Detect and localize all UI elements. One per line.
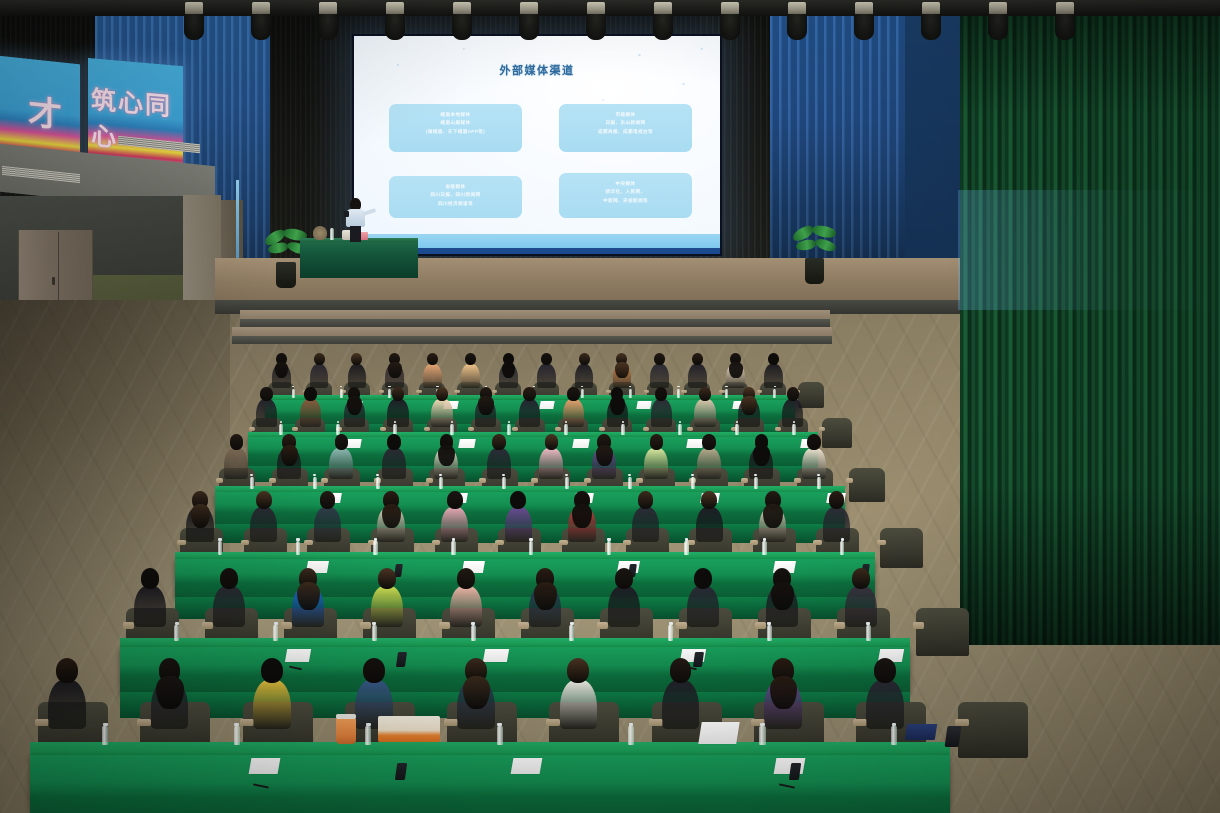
water-bottle <box>607 541 611 555</box>
chair-arm <box>202 622 213 628</box>
attendee-head <box>436 387 448 401</box>
chair[interactable] <box>880 528 923 568</box>
note-paper[interactable] <box>573 439 591 448</box>
snack-box <box>378 716 440 742</box>
chair-arm <box>643 427 649 431</box>
presenter-legs <box>350 226 361 242</box>
attendee-torso <box>764 364 783 388</box>
attendee-torso <box>575 364 594 388</box>
attendee-hair <box>729 362 743 379</box>
spotlight-lamp <box>921 14 941 40</box>
water-bottle <box>451 541 455 555</box>
notebook[interactable] <box>698 722 739 744</box>
water-bottle <box>629 389 632 398</box>
water-bottle <box>174 625 179 641</box>
attendee-torso <box>253 680 291 729</box>
chair-arm <box>495 540 504 545</box>
spotlight-lamp <box>787 14 807 40</box>
slide-box-province-media: 省级媒体 四川日报、四川新闻网 四川经济频道等 <box>389 176 522 218</box>
slide-box-local-media: 峨眉本地媒体 峨眉山报媒体 (微峨眉、天下峨眉APP等) <box>389 104 522 152</box>
attendee-hair <box>281 445 298 466</box>
attendee-head <box>56 658 78 683</box>
water-bottle <box>792 424 795 435</box>
slide-box-line: (微峨眉、天下峨眉APP等) <box>389 128 522 136</box>
attendee-hair <box>615 362 629 379</box>
attendee-torso <box>644 448 668 479</box>
attendee-head <box>457 568 475 589</box>
stage-step-riser <box>240 319 830 327</box>
spotlight-lamp <box>586 14 606 40</box>
water-bottle <box>279 424 282 435</box>
water-bottle <box>581 389 584 398</box>
attendee-torso <box>213 586 245 627</box>
attendee-torso <box>382 448 406 479</box>
chair-arm <box>681 390 686 393</box>
attendee-torso <box>431 399 452 427</box>
bottle-cap <box>570 622 574 625</box>
attendee-torso <box>441 507 468 543</box>
note-paper[interactable] <box>511 758 543 774</box>
attendee-torso <box>256 399 277 427</box>
chair-arm <box>741 478 748 482</box>
attendee-torso <box>300 399 321 427</box>
smartphone[interactable] <box>693 652 704 667</box>
water-bottle <box>296 541 300 555</box>
bottle-cap <box>471 622 475 625</box>
attendee-head <box>378 568 396 589</box>
water-bottle <box>668 625 673 641</box>
attendee-torso <box>688 364 707 388</box>
attendee-head <box>655 387 667 401</box>
chair-arm <box>360 622 371 628</box>
water-bottle <box>502 477 506 489</box>
chair-arm <box>555 427 561 431</box>
spotlight-lamp <box>720 14 740 40</box>
water-bottle <box>565 477 569 489</box>
water-bottle <box>376 477 380 489</box>
bottle-cap <box>725 386 727 387</box>
water-bottle <box>762 541 766 555</box>
attendee-head <box>492 434 506 450</box>
stage-step-riser <box>232 336 832 344</box>
bottle-cap <box>767 622 771 625</box>
attendee-hair <box>771 582 794 610</box>
tablet-cover[interactable] <box>905 724 938 740</box>
attendee-head <box>638 491 654 509</box>
attendee-hair <box>297 582 320 610</box>
bottle-cap <box>274 622 278 625</box>
bottle-cap <box>817 474 820 476</box>
attendee-head <box>615 568 633 589</box>
attendee-torso <box>134 586 166 627</box>
chair-arm <box>644 390 649 393</box>
bottle-cap <box>372 622 376 625</box>
attendee-hair <box>388 362 402 379</box>
chair-arm <box>636 478 643 482</box>
bottle-cap <box>218 538 221 540</box>
chair-arm <box>687 427 693 431</box>
attendee-hair <box>770 676 797 709</box>
side-screen-left-text: 才 <box>28 85 62 138</box>
bottle-cap <box>497 723 502 726</box>
attendee-hair <box>572 504 592 528</box>
bottle-cap <box>234 723 239 726</box>
chair-arm <box>913 622 924 628</box>
attendee-torso <box>866 680 904 729</box>
bottle-cap <box>565 474 568 476</box>
bottle-cap <box>669 622 673 625</box>
attendee-torso <box>694 399 715 427</box>
chair-arm <box>426 478 433 482</box>
attendee-head <box>260 387 272 401</box>
chair-arm <box>606 390 611 393</box>
attendee-head <box>510 491 526 509</box>
water-bottle <box>621 424 624 435</box>
chair-arm <box>241 540 250 545</box>
attendee-head <box>447 491 463 509</box>
bottle-cap <box>250 474 253 476</box>
water-bottle <box>439 477 443 489</box>
attendee-torso <box>537 364 556 388</box>
chair[interactable] <box>849 468 885 502</box>
attendee-torso <box>387 399 408 427</box>
note-paper[interactable] <box>483 649 510 662</box>
bottle-cap <box>760 723 765 726</box>
chair-arm <box>216 478 223 482</box>
curtain-light-spill <box>958 190 1220 310</box>
attendee-torso <box>823 507 850 543</box>
attendee-head <box>874 658 896 683</box>
attendee-head <box>523 387 535 401</box>
chair-arm <box>177 540 186 545</box>
chair-arm <box>424 427 430 431</box>
attendee-head <box>335 434 349 450</box>
chair-arm <box>454 390 459 393</box>
bottle-cap <box>439 474 442 476</box>
water-bottle <box>273 625 278 641</box>
lighting-truss <box>0 0 1220 16</box>
bottle-cap <box>175 622 179 625</box>
note-paper[interactable] <box>459 439 477 448</box>
water-bottle <box>365 726 371 745</box>
door-handle[interactable] <box>52 277 55 285</box>
attendee-head <box>541 353 552 365</box>
slide-title: 外部媒体渠道 <box>354 62 720 78</box>
chair-arm <box>813 540 822 545</box>
slide-box-city-media: 市级媒体 日报、乐山新闻网 成都商报、成都电视台等 <box>559 104 692 152</box>
slide-box-line: 成都商报、成都电视台等 <box>559 128 692 136</box>
chair-arm <box>623 540 632 545</box>
water-bottle <box>313 477 317 489</box>
attendee-torso <box>687 586 719 627</box>
chair-arm <box>137 719 151 726</box>
chair-arm <box>755 622 766 628</box>
water-bottle <box>450 424 453 435</box>
bottle-cap <box>628 474 631 476</box>
note-paper[interactable] <box>285 649 312 662</box>
bottle-cap <box>374 538 377 540</box>
slide-box-line: 中央媒体 <box>559 180 692 188</box>
attendee-head <box>807 434 821 450</box>
attendee-head <box>702 434 716 450</box>
decorative-item <box>313 226 327 240</box>
bottle-cap <box>502 474 505 476</box>
slide-box-line: 日报、乐山新闻网 <box>559 119 692 127</box>
attendee-torso <box>250 507 277 543</box>
attendee-head <box>694 568 712 589</box>
conference-table <box>30 755 950 813</box>
attendee-torso <box>539 448 563 479</box>
attendee-torso <box>450 586 482 627</box>
water-bottle <box>678 424 681 435</box>
chair[interactable] <box>958 702 1028 758</box>
bottle-cap <box>529 538 532 540</box>
attendee-head <box>699 387 711 401</box>
slide-box-line: 省级媒体 <box>389 183 522 191</box>
slide-box-line: 中新网、央视新闻等 <box>559 197 692 205</box>
attendee-torso <box>697 448 721 479</box>
water-bottle <box>564 424 567 435</box>
attendee-torso <box>348 364 367 388</box>
water-bottle <box>250 477 254 489</box>
chair-arm <box>432 540 441 545</box>
blue-lit-wall-right <box>770 0 920 300</box>
drink-cup <box>336 718 356 744</box>
attendee-head <box>787 387 799 401</box>
chair-arm <box>750 540 759 545</box>
chair-arm <box>512 427 518 431</box>
water-bottle <box>684 541 688 555</box>
stage-table <box>300 240 418 278</box>
chair-arm <box>240 719 254 726</box>
bottle-cap <box>754 474 757 476</box>
chair-arm <box>518 622 529 628</box>
bottle-cap <box>774 386 776 387</box>
attendee-torso <box>487 448 511 479</box>
attendee-torso <box>310 364 329 388</box>
chair-arm <box>292 427 298 431</box>
attendee-torso <box>314 507 341 543</box>
attendee-head <box>701 491 717 509</box>
bottle-cap <box>388 386 390 387</box>
water-bottle <box>840 541 844 555</box>
bottle-cap <box>376 474 379 476</box>
chair-arm <box>853 719 867 726</box>
chair-arm <box>468 427 474 431</box>
chair-arm <box>479 478 486 482</box>
attendee-head <box>261 658 283 683</box>
water-bottle <box>691 477 695 489</box>
chair-arm <box>794 478 801 482</box>
attendee-torso <box>802 448 826 479</box>
slide-box-line: 四川日报、四川新闻网 <box>389 191 522 199</box>
bottle-cap <box>892 723 897 726</box>
chair-arm <box>546 719 560 726</box>
bottle-cap <box>866 622 870 625</box>
chair-arm <box>35 719 49 726</box>
attendee-hair <box>478 396 493 415</box>
slide-box-line: 峨眉本地媒体 <box>389 111 522 119</box>
water-bottle <box>735 424 738 435</box>
attendee-torso <box>845 586 877 627</box>
attendee-head <box>768 353 779 365</box>
chair-arm <box>444 719 458 726</box>
chair[interactable] <box>916 608 969 656</box>
note-paper[interactable] <box>248 758 280 774</box>
spotlight-lamp <box>318 14 338 40</box>
water-bottle <box>388 389 391 398</box>
attendee-head <box>230 434 244 450</box>
attendee-head <box>141 568 159 589</box>
bottle-cap <box>103 723 108 726</box>
chair-arm <box>649 719 663 726</box>
attendee-torso <box>461 364 480 388</box>
smartphone[interactable] <box>394 763 407 780</box>
bottle-cap <box>685 538 688 540</box>
attendee-hair <box>463 676 490 709</box>
attendee-hair <box>156 676 183 709</box>
attendee-head <box>465 353 476 365</box>
water-bottle <box>773 389 776 398</box>
attendee-torso <box>696 507 723 543</box>
chair[interactable] <box>798 382 824 408</box>
bottle-cap <box>366 723 371 726</box>
attendee-head <box>256 491 272 509</box>
note-paper[interactable] <box>540 401 556 409</box>
attendee-head <box>670 658 692 683</box>
water-bottle <box>677 389 680 398</box>
chair-arm <box>559 540 568 545</box>
spotlight-lamp <box>184 14 204 40</box>
water-bottle <box>817 477 821 489</box>
attendee-torso <box>224 448 248 479</box>
plant-pot-left <box>276 262 296 288</box>
slide-box-line: 峨眉山报媒体 <box>389 119 522 127</box>
spotlight-lamp <box>854 14 874 40</box>
bottle-cap <box>607 538 610 540</box>
slide-box-line: 四川经济频道等 <box>389 200 522 208</box>
chair-arm <box>719 390 724 393</box>
curtain-shading <box>960 0 1220 645</box>
attendee-torso <box>505 507 532 543</box>
water-bottle <box>628 726 634 745</box>
chair-arm <box>676 622 687 628</box>
attendee-head <box>220 568 238 589</box>
bottle-cap <box>533 386 535 387</box>
chair-arm <box>584 478 591 482</box>
attendee-torso <box>651 399 672 427</box>
chair-arm <box>269 478 276 482</box>
attendee-torso <box>608 586 640 627</box>
attendee-torso <box>560 680 598 729</box>
water-bottle <box>569 625 574 641</box>
attendee-torso <box>329 448 353 479</box>
chair-arm <box>597 622 608 628</box>
attendee-head <box>363 658 385 683</box>
water-bottle <box>529 541 533 555</box>
attendee-head <box>304 387 316 401</box>
chair-arm <box>379 390 384 393</box>
attendee-head <box>545 434 559 450</box>
chair[interactable] <box>822 418 852 448</box>
water-bottle <box>497 726 503 745</box>
chair-arm <box>877 540 886 545</box>
attendee-head <box>567 387 579 401</box>
water-bottle <box>628 477 632 489</box>
chair-arm <box>249 427 255 431</box>
attendee-torso <box>423 364 442 388</box>
attendee-head <box>579 353 590 365</box>
water-bottle <box>507 424 510 435</box>
bottle-cap <box>841 538 844 540</box>
smartphone[interactable] <box>945 726 962 747</box>
attendee-torso <box>632 507 659 543</box>
slide-box-line: 市级媒体 <box>559 111 692 119</box>
chair-arm <box>819 427 825 431</box>
attendee-head <box>829 491 845 509</box>
chair-arm <box>380 427 386 431</box>
plant-pot-right <box>805 258 824 284</box>
water-bottle <box>372 625 377 641</box>
attendee-head <box>567 658 589 683</box>
spotlight-lamp <box>385 14 405 40</box>
bottle-cap <box>763 538 766 540</box>
water-bottle <box>891 726 897 745</box>
water-bottle <box>725 389 728 398</box>
water-bottle <box>373 541 377 555</box>
water-bottle <box>866 625 871 641</box>
attendee-head <box>852 568 870 589</box>
attendee-head <box>314 353 325 365</box>
chair-arm <box>321 478 328 482</box>
water-bottle <box>767 625 772 641</box>
chair-arm <box>281 622 292 628</box>
bottle-cap <box>452 538 455 540</box>
attendee-head <box>392 387 404 401</box>
attendee-hair <box>741 396 756 415</box>
bottle-cap <box>313 474 316 476</box>
chair-arm <box>775 427 781 431</box>
chair-arm <box>834 622 845 628</box>
chair-arm <box>416 390 421 393</box>
attendee-hair <box>534 582 557 610</box>
note-paper[interactable] <box>636 401 652 409</box>
chair-arm <box>123 622 134 628</box>
projection-screen: 外部媒体渠道 峨眉本地媒体 峨眉山报媒体 (微峨眉、天下峨眉APP等) 市级媒体… <box>354 36 720 254</box>
attendee-hair <box>191 504 211 528</box>
water-bottle <box>330 228 334 240</box>
attendee-hair <box>596 445 613 466</box>
spotlight-lamp <box>653 14 673 40</box>
spotlight-lamp <box>251 14 271 40</box>
chair-arm <box>531 478 538 482</box>
attendee-head <box>650 434 664 450</box>
attendee-head <box>320 491 336 509</box>
chair-arm <box>599 427 605 431</box>
stage-step <box>232 327 832 336</box>
attendee-hair <box>382 504 402 528</box>
stage-step <box>240 310 830 319</box>
chair-arm <box>304 540 313 545</box>
water-bottle <box>759 726 765 745</box>
slide-box-line: 新华社、人民网、 <box>559 188 692 196</box>
water-bottle <box>218 541 222 555</box>
attendee-torso <box>650 364 669 388</box>
attendee-torso <box>519 399 540 427</box>
attendee-torso <box>371 586 403 627</box>
water-bottle <box>340 389 343 398</box>
bottle-cap <box>677 386 679 387</box>
